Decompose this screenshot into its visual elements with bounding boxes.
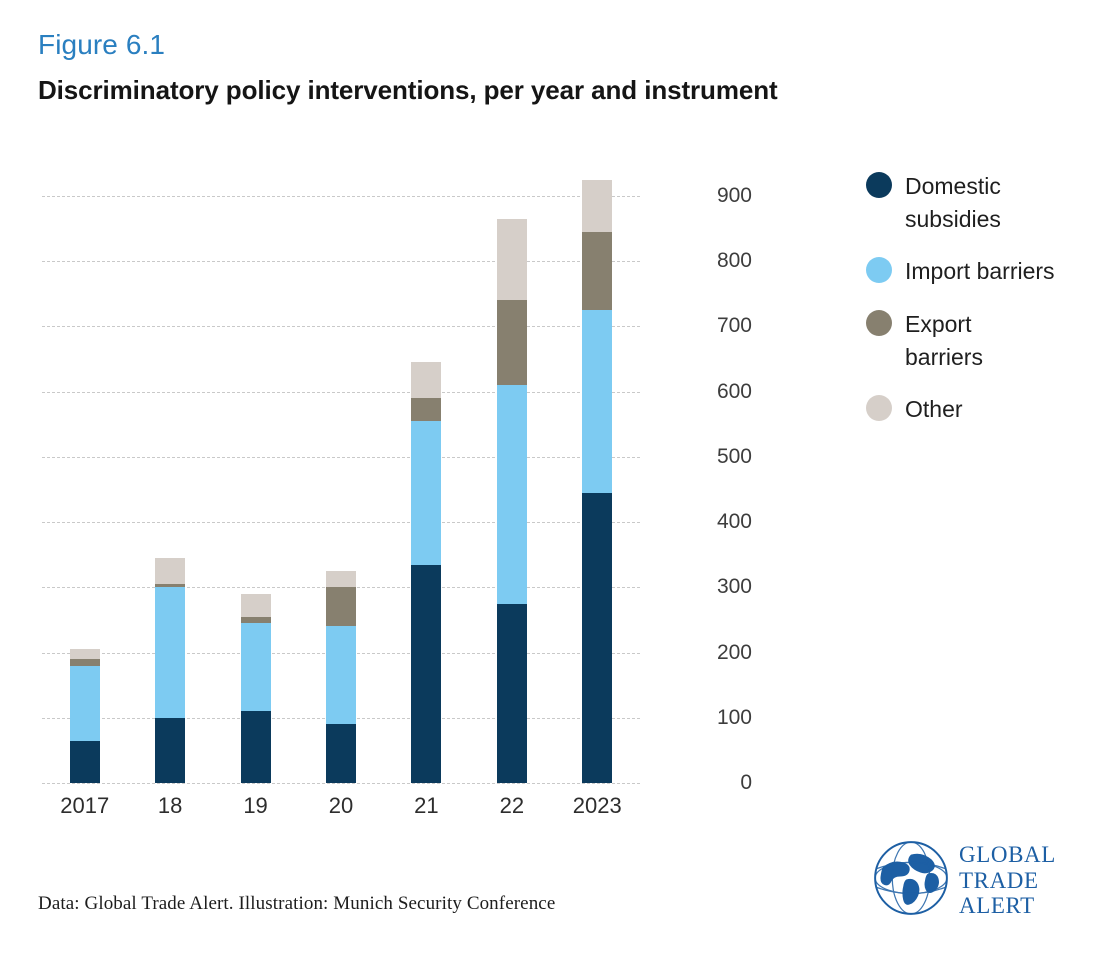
legend-item[interactable]: Domestic subsidies	[866, 170, 1091, 235]
global-trade-alert-logo: GLOBAL TRADE ALERT	[872, 833, 1072, 928]
gridline	[42, 261, 640, 262]
bar-segment[interactable]	[582, 232, 612, 310]
bar-segment[interactable]	[155, 558, 185, 584]
y-axis-tick-label: 900	[692, 184, 752, 208]
bar-segment[interactable]	[411, 421, 441, 564]
bar-segment[interactable]	[70, 741, 100, 783]
source-note: Data: Global Trade Alert. Illustration: …	[38, 893, 555, 915]
logo-wordmark: GLOBAL TRADE ALERT	[959, 842, 1056, 919]
gridline	[42, 783, 640, 784]
bar-segment[interactable]	[411, 362, 441, 398]
bar-stack[interactable]	[155, 558, 185, 783]
bar-segment[interactable]	[241, 594, 271, 617]
bar-segment[interactable]	[155, 587, 185, 717]
legend-swatch-icon	[866, 310, 892, 336]
y-axis-tick-label: 800	[692, 249, 752, 273]
bar-segment[interactable]	[497, 300, 527, 385]
gridline	[42, 457, 640, 458]
bar-segment[interactable]	[326, 587, 356, 626]
bar-segment[interactable]	[70, 666, 100, 741]
bar-segment[interactable]	[70, 649, 100, 659]
y-axis-tick-label: 100	[692, 706, 752, 730]
y-axis-tick-label: 400	[692, 510, 752, 534]
gridline	[42, 326, 640, 327]
gridline	[42, 522, 640, 523]
bar-segment[interactable]	[411, 565, 441, 783]
y-axis-tick-label: 300	[692, 575, 752, 599]
bar-segment[interactable]	[497, 604, 527, 783]
bar-stack[interactable]	[70, 649, 100, 783]
bar-segment[interactable]	[497, 385, 527, 603]
legend-item[interactable]: Export barriers	[866, 308, 1091, 373]
chart-area: 0100200300400500600700800900 20171819202…	[0, 0, 1102, 974]
bar-segment[interactable]	[241, 711, 271, 783]
globe-icon	[872, 839, 950, 922]
legend-swatch-icon	[866, 172, 892, 198]
logo-line-2: TRADE	[959, 868, 1039, 893]
legend-label: Domestic subsidies	[905, 170, 1055, 235]
logo-line-3: ALERT	[959, 893, 1035, 918]
bar-segment[interactable]	[582, 493, 612, 783]
legend-item[interactable]: Import barriers	[866, 255, 1091, 288]
gridline	[42, 196, 640, 197]
bar-segment[interactable]	[582, 180, 612, 232]
bar-segment[interactable]	[411, 398, 441, 421]
plot-area: 0100200300400500600700800900 20171819202…	[42, 196, 640, 783]
bar-segment[interactable]	[582, 310, 612, 493]
chart-legend: Domestic subsidiesImport barriersExport …	[866, 170, 1091, 446]
bar-segment[interactable]	[326, 571, 356, 587]
y-axis-tick-label: 700	[692, 314, 752, 338]
legend-label: Export barriers	[905, 308, 1055, 373]
x-axis-tick-label: 2023	[542, 793, 652, 819]
legend-item[interactable]: Other	[866, 393, 1091, 426]
bar-segment[interactable]	[241, 623, 271, 711]
bar-segment[interactable]	[155, 718, 185, 783]
y-axis-tick-label: 0	[692, 771, 752, 795]
bar-stack[interactable]	[411, 362, 441, 783]
bar-segment[interactable]	[326, 626, 356, 724]
logo-line-1: GLOBAL	[959, 842, 1056, 867]
legend-label: Other	[905, 393, 963, 426]
legend-label: Import barriers	[905, 255, 1055, 288]
bar-stack[interactable]	[241, 594, 271, 783]
legend-swatch-icon	[866, 257, 892, 283]
bar-stack[interactable]	[497, 219, 527, 783]
y-axis-tick-label: 200	[692, 641, 752, 665]
legend-swatch-icon	[866, 395, 892, 421]
bar-segment[interactable]	[326, 724, 356, 783]
gridline	[42, 392, 640, 393]
bar-stack[interactable]	[582, 180, 612, 783]
y-axis-tick-label: 600	[692, 380, 752, 404]
y-axis-tick-label: 500	[692, 445, 752, 469]
bar-segment[interactable]	[497, 219, 527, 301]
bar-stack[interactable]	[326, 571, 356, 783]
